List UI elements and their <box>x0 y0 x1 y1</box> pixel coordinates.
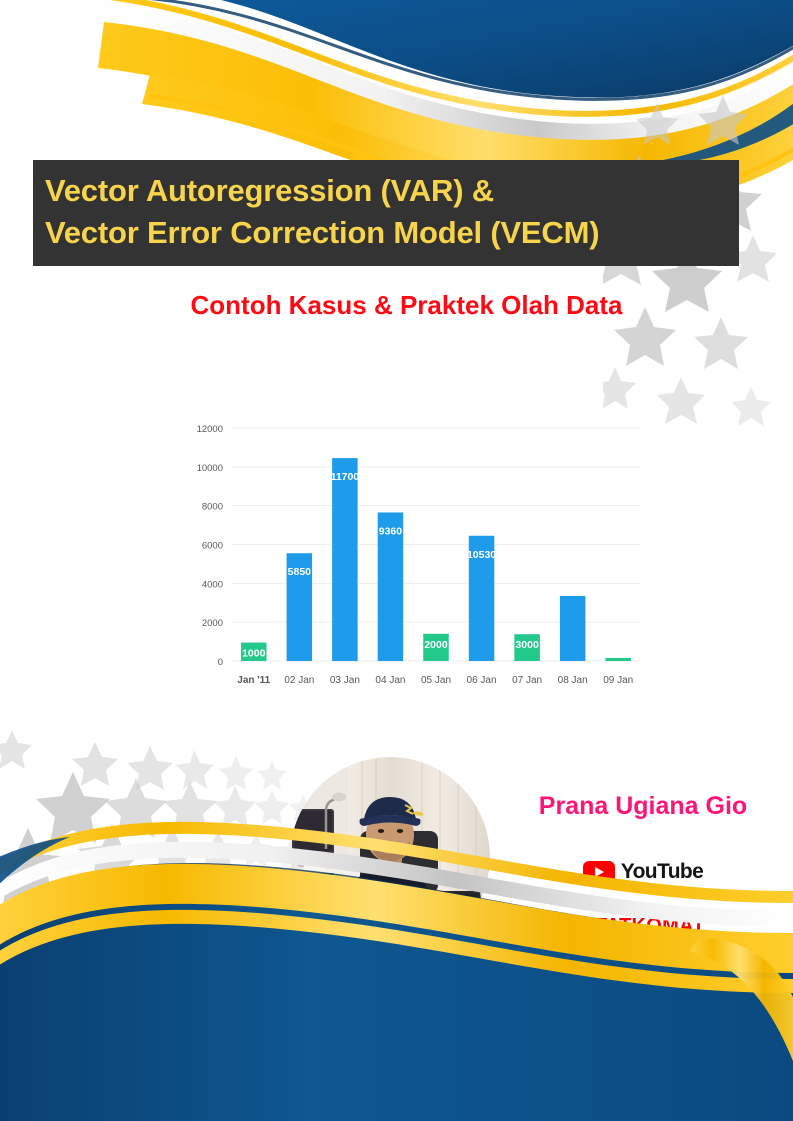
y-axis-tick-label: 0 <box>218 657 223 668</box>
title-line-1: Vector Autoregression (VAR) & <box>45 170 739 212</box>
x-axis-tick-label: 07 Jan <box>512 675 542 686</box>
bar-value-label: 2000 <box>424 639 448 651</box>
channel-name: STATKOMAT <box>508 915 778 938</box>
author-name: Prana Ugiana Gio <box>508 792 778 821</box>
author-photo <box>290 757 490 957</box>
y-axis-tick-label: 4000 <box>202 579 223 590</box>
x-axis-tick-label: Jan '11 <box>237 675 270 686</box>
bar-value-label: 5850 <box>288 566 312 578</box>
subtitle: Contoh Kasus & Praktek Olah Data <box>0 290 793 321</box>
y-axis-tick-label: 8000 <box>202 502 223 513</box>
y-axis-tick-label: 2000 <box>202 618 223 629</box>
bar <box>605 658 631 661</box>
y-axis-tick-label: 6000 <box>202 541 223 552</box>
x-axis-tick-label: 08 Jan <box>558 675 588 686</box>
title-line-2: Vector Error Correction Model (VECM) <box>45 212 739 254</box>
bar-value-label: 11700 <box>331 471 360 483</box>
bar-value-label: 9360 <box>379 525 403 537</box>
star-field-right <box>603 95 793 455</box>
bar <box>332 458 358 661</box>
bar-chart: 0200040006000800010000120001000Jan '1158… <box>183 418 649 693</box>
youtube-play-icon <box>583 861 615 883</box>
bar-value-label: 10530 <box>467 549 496 561</box>
bar-value-label: 1000 <box>242 648 266 660</box>
x-axis-tick-label: 03 Jan <box>330 675 360 686</box>
x-axis-tick-label: 02 Jan <box>284 675 314 686</box>
youtube-wordmark: YouTube <box>621 860 704 884</box>
y-axis-tick-label: 10000 <box>197 463 223 474</box>
bar <box>560 596 586 661</box>
x-axis-tick-label: 05 Jan <box>421 675 451 686</box>
title-box: Vector Autoregression (VAR) & Vector Err… <box>33 160 739 266</box>
x-axis-tick-label: 04 Jan <box>375 675 405 686</box>
youtube-logo[interactable]: YouTube <box>508 860 778 884</box>
poster-page: Vector Autoregression (VAR) & Vector Err… <box>0 0 793 1121</box>
x-axis-tick-label: 06 Jan <box>467 675 497 686</box>
bar-value-label: 3000 <box>515 639 539 651</box>
star-field-bottom-left <box>0 720 330 1020</box>
y-axis-tick-label: 12000 <box>197 424 223 435</box>
x-axis-tick-label: 09 Jan <box>603 675 633 686</box>
